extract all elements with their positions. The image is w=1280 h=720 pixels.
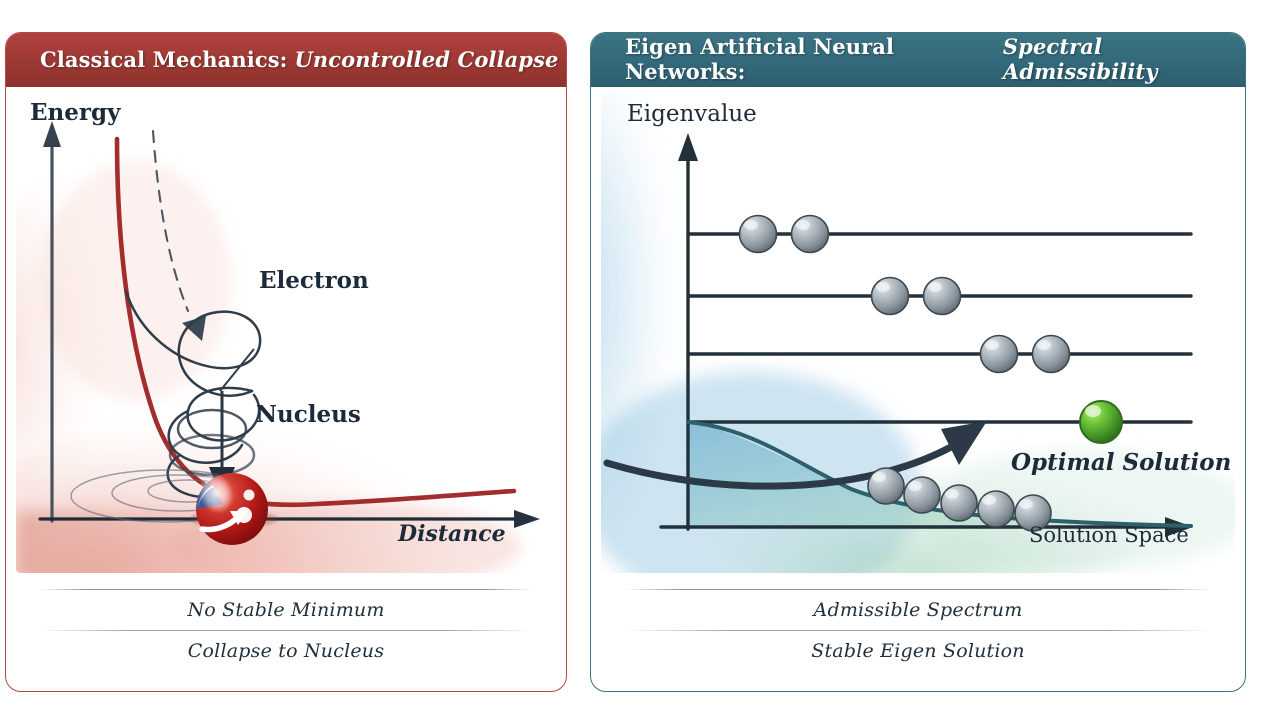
footer-note-no-stable-minimum: No Stable Minimum bbox=[40, 590, 532, 630]
eigen-plot-svg bbox=[601, 91, 1235, 573]
axis-label-distance: Distance bbox=[398, 521, 506, 547]
classical-plot-area: Energy Electron Nucleus Distance bbox=[16, 91, 556, 573]
panel-classical-mechanics: Classical Mechanics: Uncontrolled Collap… bbox=[5, 32, 567, 692]
panel-header-left: Classical Mechanics: Uncontrolled Collap… bbox=[5, 32, 567, 87]
footer-note-admissible-spectrum: Admissible Spectrum bbox=[625, 590, 1211, 630]
state-marker bbox=[868, 468, 904, 504]
classical-plot-svg bbox=[16, 91, 556, 573]
eigen-plot-area: Eigenvalue Optimal Solution Solution Spa… bbox=[601, 91, 1235, 573]
axis-label-solution-space: Solution Space bbox=[1029, 523, 1189, 547]
red-watercolor-wash bbox=[16, 161, 536, 573]
annotation-nucleus: Nucleus bbox=[256, 401, 361, 428]
panel-header-right: Eigen Artificial Neural Networks: Spectr… bbox=[590, 32, 1246, 87]
panel-left-title-main: Classical Mechanics: bbox=[40, 47, 287, 72]
axis-label-eigenvalue: Eigenvalue bbox=[627, 101, 757, 127]
state-marker bbox=[740, 216, 777, 253]
state-marker bbox=[904, 477, 940, 513]
state-marker bbox=[924, 278, 961, 315]
diagram-canvas: Classical Mechanics: Uncontrolled Collap… bbox=[0, 0, 1280, 720]
axis-label-energy: Energy bbox=[30, 99, 120, 126]
state-marker bbox=[792, 216, 829, 253]
state-marker bbox=[1033, 336, 1070, 373]
state-marker bbox=[981, 336, 1018, 373]
annotation-electron: Electron bbox=[259, 267, 369, 294]
optimal-solution-marker bbox=[1080, 401, 1122, 443]
footer-note-stable-eigen-solution: Stable Eigen Solution bbox=[625, 631, 1211, 671]
annotation-optimal-solution: Optimal Solution bbox=[1011, 449, 1231, 476]
classical-footer: No Stable Minimum Collapse to Nucleus bbox=[40, 589, 532, 671]
state-marker bbox=[941, 485, 977, 521]
electron-leader-line bbox=[220, 349, 254, 391]
panel-eigen-ann: Eigen Artificial Neural Networks: Spectr… bbox=[590, 32, 1246, 692]
panel-left-body: Energy Electron Nucleus Distance No Stab… bbox=[6, 87, 566, 691]
eigen-footer: Admissible Spectrum Stable Eigen Solutio… bbox=[625, 589, 1211, 671]
footer-note-collapse-to-nucleus: Collapse to Nucleus bbox=[40, 631, 532, 671]
panel-right-title-sub: Spectral Admissibility bbox=[1003, 34, 1246, 84]
state-marker bbox=[978, 491, 1014, 527]
state-marker bbox=[872, 278, 909, 315]
panel-left-title-sub: Uncontrolled Collapse bbox=[294, 47, 558, 72]
panel-right-body: Eigenvalue Optimal Solution Solution Spa… bbox=[591, 87, 1245, 691]
panel-right-title-main: Eigen Artificial Neural Networks: bbox=[625, 34, 996, 84]
